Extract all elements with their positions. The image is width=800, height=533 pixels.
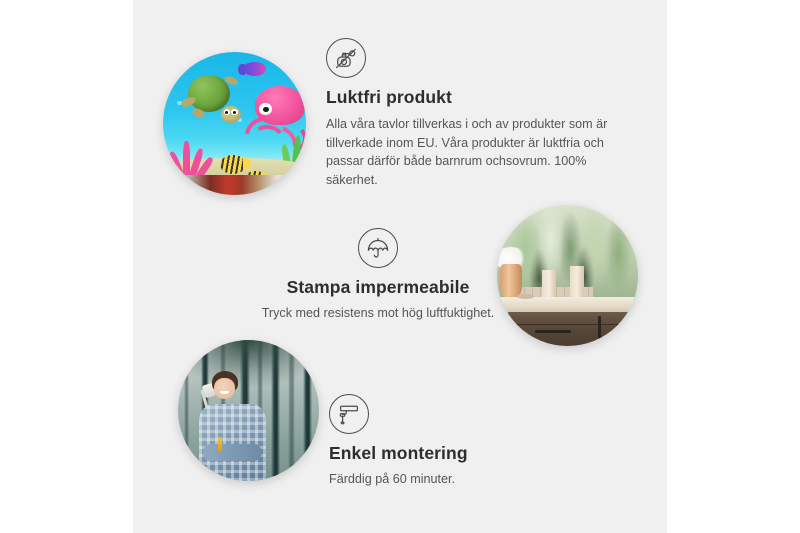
woman-crossed-arms <box>203 444 262 462</box>
content-panel: Luktfri produkt Alla våra tavlor tillver… <box>133 0 667 533</box>
octopus-eye <box>259 103 272 115</box>
yellow-fish-illustration <box>220 155 246 174</box>
turtle-shell <box>188 75 230 112</box>
forest-scene <box>178 340 319 481</box>
turtle-eye <box>231 109 237 115</box>
feature-title: Enkel montering <box>329 443 629 465</box>
pink-coral-illustration <box>172 141 215 178</box>
feature-title: Luktfri produkt <box>326 87 622 109</box>
turtle-head <box>221 106 242 123</box>
feature-image-mounting <box>178 340 319 481</box>
feature-image-odorless <box>163 52 306 195</box>
woman-plaid-shirt <box>199 404 266 481</box>
woman-face <box>214 378 235 399</box>
product-feature-infographic: Luktfri produkt Alla våra tavlor tillver… <box>0 0 800 533</box>
yellow-tool <box>218 437 223 452</box>
octopus-head <box>255 86 304 125</box>
no-odor-perfume-bottle-icon <box>326 38 366 78</box>
feature-block-odorless: Luktfri produkt Alla våra tavlor tillver… <box>326 38 622 189</box>
feature-block-waterproof: Stampa impermeabile Tryck med resistens … <box>193 228 563 323</box>
woman-with-paint-roller <box>195 371 271 481</box>
paint-roller-icon <box>329 394 369 434</box>
rolled-towel <box>570 266 584 298</box>
feature-description: Alla våra tavlor tillverkas i och av pro… <box>326 115 622 190</box>
underwater-scene <box>163 52 306 195</box>
feature-description: Tryck med resistens mot hög luftfuktighe… <box>193 304 563 323</box>
ocean-foreground-strip <box>163 175 306 195</box>
feature-description: Färddig på 60 minuter. <box>329 470 629 489</box>
turtle-eye <box>224 109 230 115</box>
feature-block-mounting: Enkel montering Färddig på 60 minuter. <box>329 394 629 489</box>
sea-turtle-illustration <box>183 75 240 126</box>
umbrella-icon <box>358 228 398 268</box>
feature-title: Stampa impermeabile <box>193 277 563 299</box>
